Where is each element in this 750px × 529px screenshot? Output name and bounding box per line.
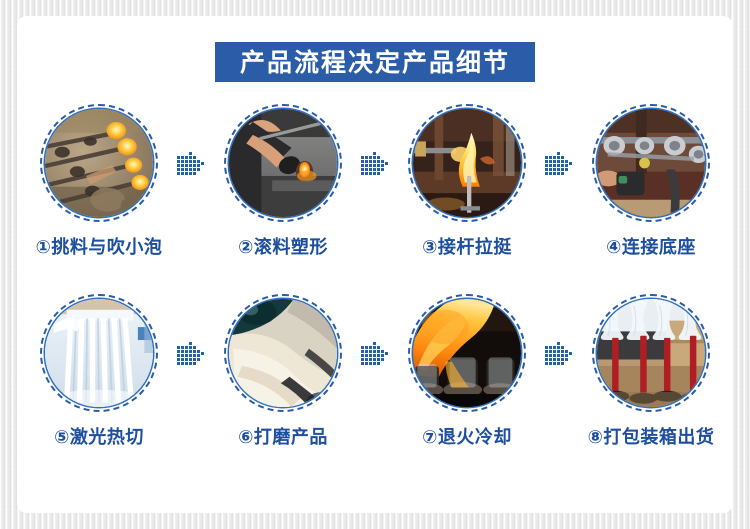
step-5-label: ⑤激光热切: [54, 423, 144, 449]
arrow-6-to-7: [356, 294, 394, 412]
step-1-label: ①挑料与吹小泡: [36, 233, 163, 259]
page-background: 产品流程决定产品细节: [0, 0, 750, 529]
step-7-label: ⑦退火冷却: [422, 423, 512, 449]
step-1-thumbnail-ring: [40, 104, 158, 222]
process-step-2[interactable]: ②滚料塑形: [219, 104, 347, 259]
process-step-7[interactable]: ⑦退火冷却: [403, 294, 531, 449]
arrow-5-to-6: [172, 294, 210, 412]
step-5-thumbnail-ring: [40, 294, 158, 412]
stem-attaching-and-pulling-photo[interactable]: [413, 109, 521, 217]
title-banner: 产品流程决定产品细节: [215, 42, 535, 82]
arrow-7-to-8: [540, 294, 578, 412]
base-connecting-photo[interactable]: [597, 109, 705, 217]
step-4-thumbnail-ring: [592, 104, 710, 222]
page-title: 产品流程决定产品细节: [240, 50, 510, 75]
process-row-bottom: ⑤激光热切: [17, 294, 733, 484]
step-7-thumbnail-ring: [408, 294, 526, 412]
process-step-8[interactable]: ⑧打包装箱出货: [587, 294, 715, 449]
step-8-label: ⑧打包装箱出货: [588, 423, 715, 449]
packing-and-shipping-photo[interactable]: [597, 299, 705, 407]
process-step-4[interactable]: ④连接底座: [587, 104, 715, 259]
step-4-label: ④连接底座: [606, 233, 696, 259]
arrow-1-to-2: [172, 104, 210, 222]
laser-hot-cutting-photo[interactable]: [45, 299, 153, 407]
process-step-5[interactable]: ⑤激光热切: [35, 294, 163, 449]
process-step-6[interactable]: ⑥打磨产品: [219, 294, 347, 449]
step-2-label: ②滚料塑形: [238, 233, 328, 259]
content-card: 产品流程决定产品细节: [17, 16, 733, 513]
annealing-and-cooling-photo[interactable]: [413, 299, 521, 407]
step-8-thumbnail-ring: [592, 294, 710, 412]
step-2-thumbnail-ring: [224, 104, 342, 222]
polishing-product-photo[interactable]: [229, 299, 337, 407]
process-row-top: ①挑料与吹小泡: [17, 104, 733, 294]
gathering-and-small-bubble-blowing-photo[interactable]: [45, 109, 153, 217]
step-6-thumbnail-ring: [224, 294, 342, 412]
step-3-thumbnail-ring: [408, 104, 526, 222]
step-6-label: ⑥打磨产品: [238, 423, 328, 449]
arrow-3-to-4: [540, 104, 578, 222]
step-3-label: ③接杆拉挺: [422, 233, 512, 259]
process-step-3[interactable]: ③接杆拉挺: [403, 104, 531, 259]
rolling-and-shaping-photo[interactable]: [229, 109, 337, 217]
process-step-1[interactable]: ①挑料与吹小泡: [35, 104, 163, 259]
arrow-2-to-3: [356, 104, 394, 222]
